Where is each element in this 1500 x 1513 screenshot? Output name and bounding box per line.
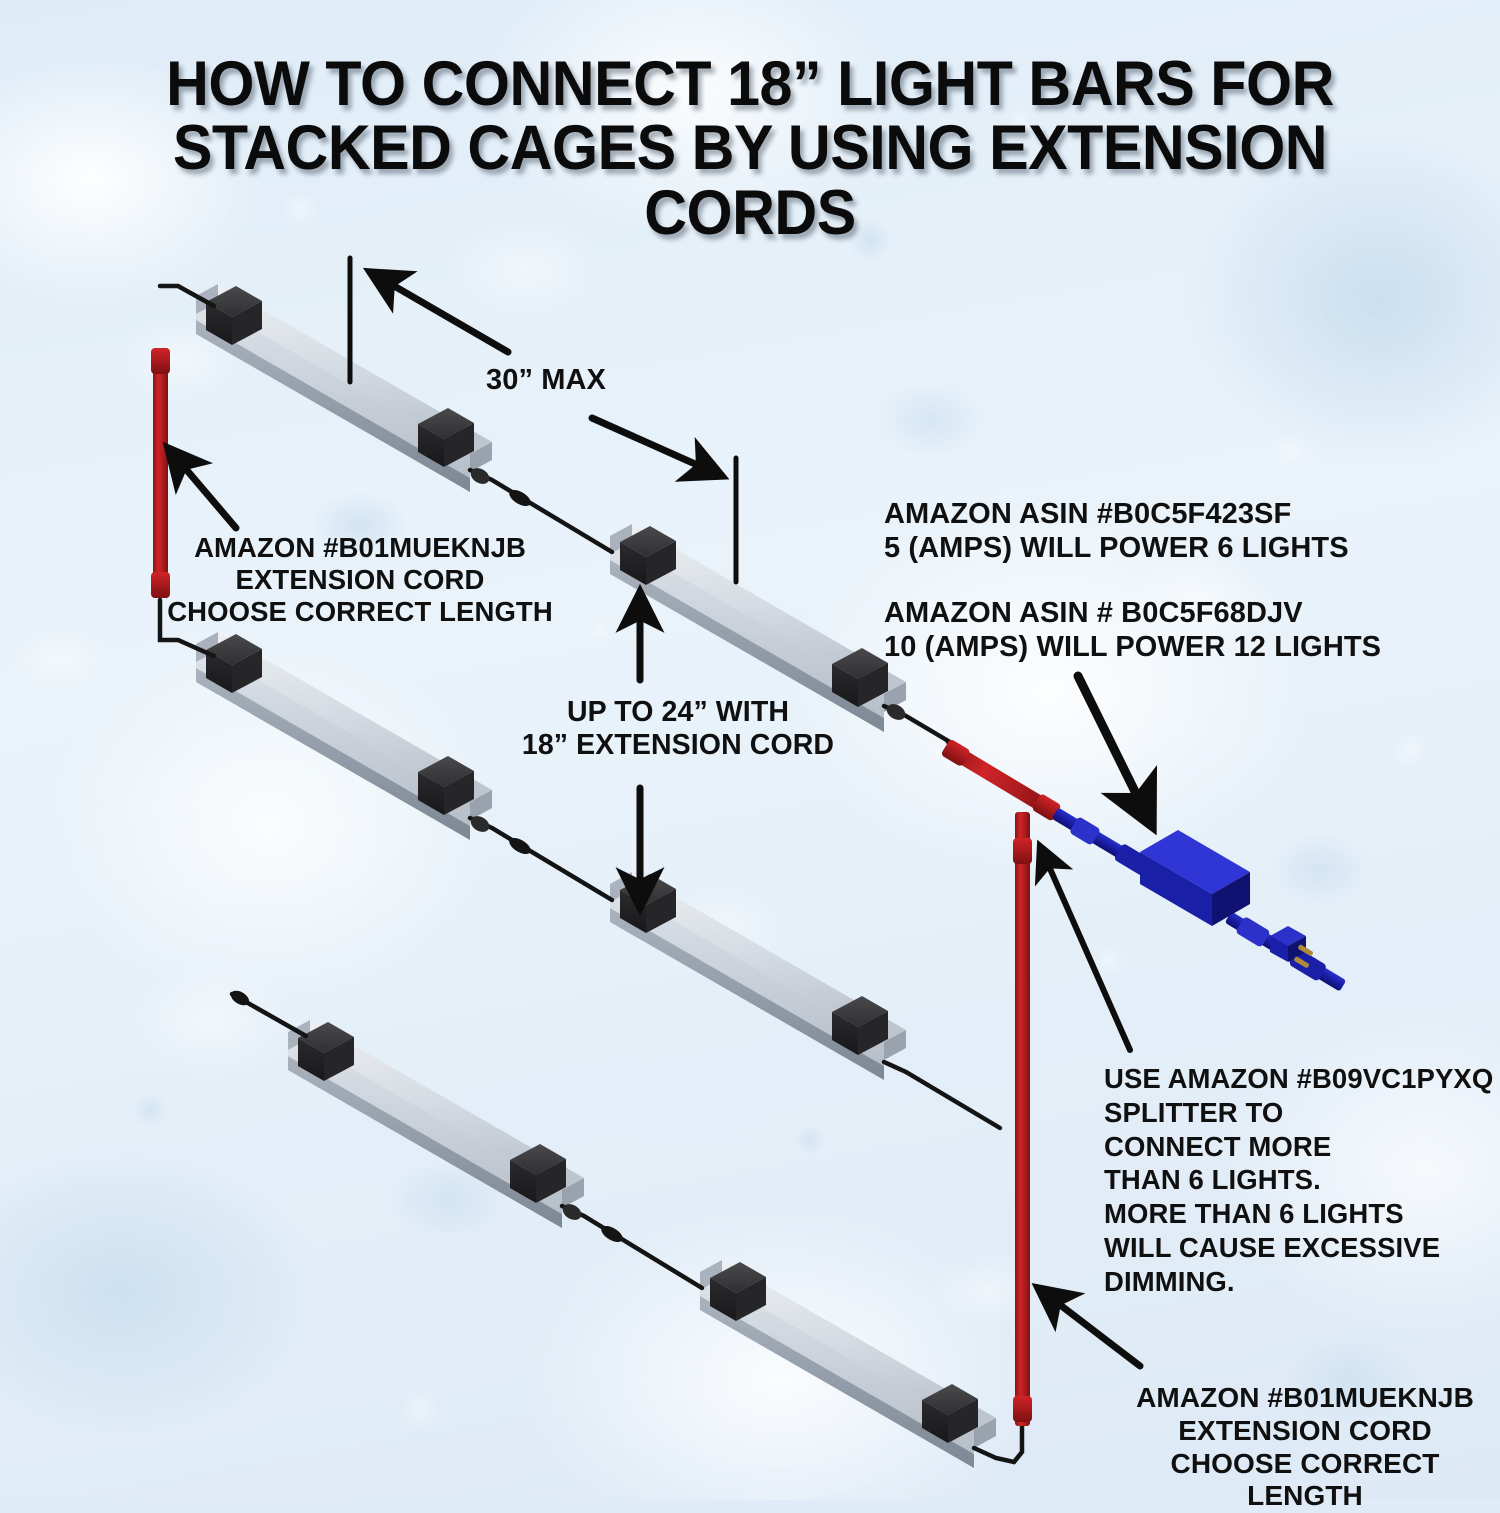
- annotation-dimension-24: UP TO 24” WITH 18” EXTENSION CORD: [518, 696, 838, 763]
- extension-cord-left-top-cap: [151, 348, 170, 374]
- light-bar-group: [196, 284, 996, 1468]
- callout-arrow-adapter: [1078, 676, 1152, 826]
- infographic-canvas: HOW TO CONNECT 18” LIGHT BARS FOR STACKE…: [0, 0, 1500, 1500]
- light-bar-6[interactable]: [700, 1260, 996, 1468]
- extension-cord-right-diagonal: [941, 738, 1062, 821]
- annotation-asin-10-amp: AMAZON ASIN # B0C5F68DJV 10 (AMPS) WILL …: [884, 597, 1381, 665]
- annotation-asin-5-amp: AMAZON ASIN #B0C5F423SF 5 (AMPS) WILL PO…: [884, 498, 1349, 566]
- annotation-extension-cord-bottom-right: AMAZON #B01MUEKNJB EXTENSION CORD CHOOSE…: [1110, 1382, 1500, 1513]
- light-bar-5[interactable]: [288, 1020, 584, 1228]
- power-cord-group: [160, 286, 1022, 1462]
- callout-arrow-left-cord: [168, 448, 236, 528]
- power-supply-brick: [1140, 830, 1250, 926]
- dimension-arrow-down-right: [592, 418, 722, 476]
- annotation-arrow-group: [168, 258, 1152, 1366]
- callout-arrow-splitter: [1040, 846, 1130, 1050]
- light-bar-3[interactable]: [196, 632, 492, 840]
- annotation-dimension-30-max: 30” MAX: [486, 364, 606, 398]
- callout-arrow-bottom-cord: [1038, 1288, 1140, 1366]
- extension-cord-right-top-cap: [1013, 838, 1032, 864]
- annotation-splitter: USE AMAZON #B09VC1PYXQ SPLITTER TO CONNE…: [1104, 1062, 1493, 1299]
- dimension-arrow-up-left: [370, 272, 508, 352]
- cord-bar4-down: [884, 1062, 1000, 1128]
- extension-cord-right-bottom-cap: [1013, 1396, 1032, 1422]
- annotation-extension-cord-left: AMAZON #B01MUEKNJB EXTENSION CORD CHOOSE…: [160, 532, 560, 629]
- cord-bar5-to-bar6: [562, 1206, 702, 1288]
- cord-bar3-to-bar4: [470, 818, 612, 900]
- page-title: HOW TO CONNECT 18” LIGHT BARS FOR STACKE…: [45, 52, 1455, 245]
- light-bar-4[interactable]: [610, 872, 906, 1080]
- extension-cord-right-body: [1015, 812, 1030, 1426]
